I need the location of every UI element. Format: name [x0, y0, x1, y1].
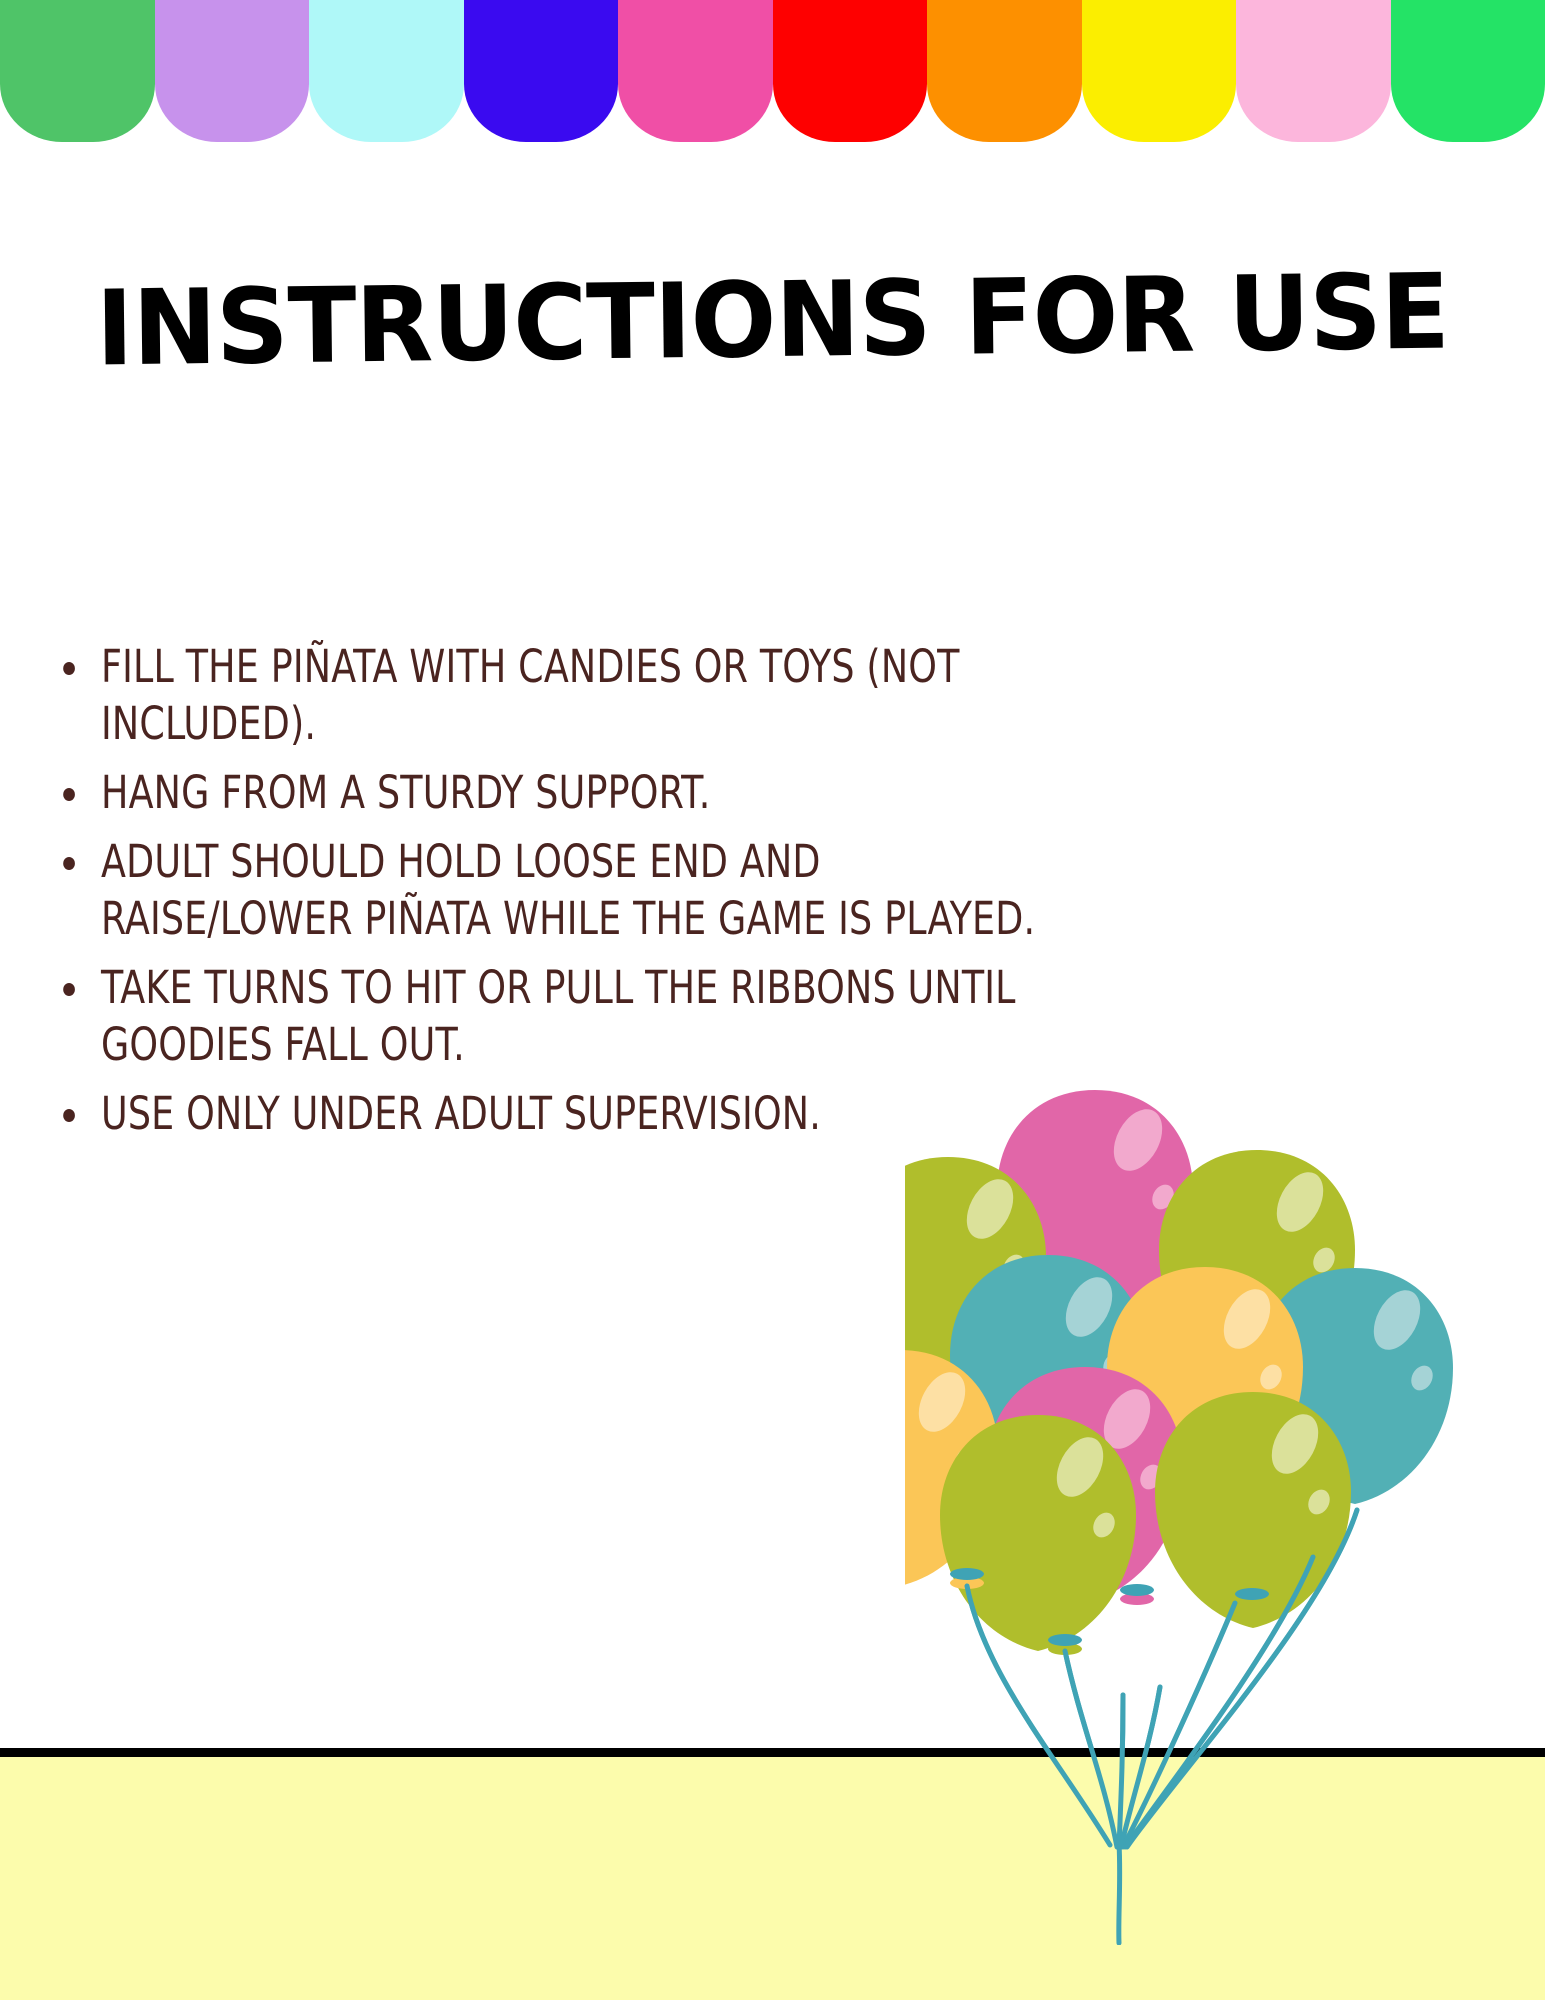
scallop-spring-green	[1391, 0, 1545, 142]
scallop-red	[773, 0, 928, 142]
scallop-lavender	[155, 0, 310, 142]
scallop-pale-cyan	[309, 0, 464, 142]
scallop-green	[0, 0, 155, 142]
footer-divider-rule	[0, 1748, 1545, 1757]
scallop-banner	[0, 0, 1545, 142]
instruction-item: HANG FROM A STURDY SUPPORT.	[56, 764, 1073, 821]
scallop-hot-pink	[618, 0, 773, 142]
page-title-container: INSTRUCTIONS FOR USE	[0, 198, 1545, 441]
instruction-item: FILL THE PIÑATA WITH CANDIES OR TOYS (NO…	[56, 638, 1073, 752]
balloon-olive-bottom-center	[940, 1415, 1136, 1651]
scallop-blue	[464, 0, 619, 142]
scallop-yellow	[1082, 0, 1237, 142]
footer-color-band	[0, 1757, 1545, 2000]
poster-page: INSTRUCTIONS FOR USE FILL THE PIÑATA WIT…	[0, 0, 1545, 2000]
scallop-orange	[927, 0, 1082, 142]
scallop-light-pink	[1236, 0, 1391, 142]
page-title: INSTRUCTIONS FOR USE	[95, 259, 1449, 380]
instruction-item: ADULT SHOULD HOLD LOOSE END AND RAISE/LO…	[56, 833, 1073, 947]
